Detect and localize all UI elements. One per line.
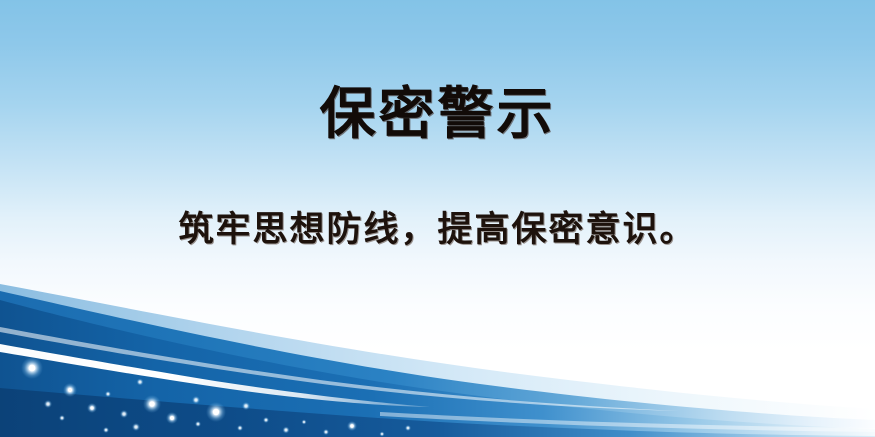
page-title: 保密警示 <box>0 84 875 146</box>
page-subtitle: 筑牢思想防线，提高保密意识。 <box>0 209 875 251</box>
text-layer: 保密警示 筑牢思想防线，提高保密意识。 <box>0 0 875 437</box>
poster-canvas: 保密警示 筑牢思想防线，提高保密意识。 <box>0 0 875 437</box>
